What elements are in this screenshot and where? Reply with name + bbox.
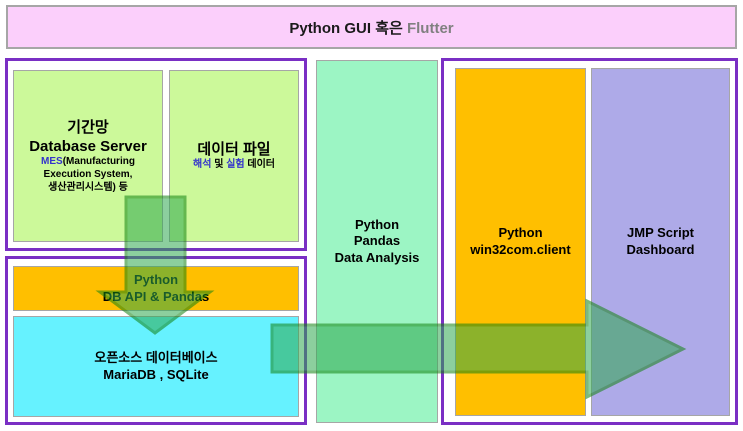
page-title-flutter: Flutter bbox=[407, 20, 454, 37]
data-file-sub-data: 데이터 bbox=[245, 159, 275, 170]
data-file-sub-analysis: 해석 bbox=[193, 159, 211, 170]
box-jmp-script-dashboard[interactable]: JMP Script Dashboard bbox=[591, 68, 730, 416]
win32com-line2: win32com.client bbox=[470, 242, 570, 259]
box-database-server[interactable]: 기간망 Database Server MES(Manufacturing Ex… bbox=[13, 70, 163, 242]
mes-acronym: MES bbox=[41, 156, 63, 167]
box-data-file[interactable]: 데이터 파일 해석 및 실험 데이터 bbox=[169, 70, 299, 242]
pandas-line1: Python bbox=[335, 217, 420, 234]
box-pandas-data-analysis[interactable]: Python Pandas Data Analysis bbox=[316, 60, 438, 423]
db-server-sub-line1: MES(Manufacturing bbox=[29, 156, 147, 169]
mes-expansion-1: (Manufacturing bbox=[63, 156, 135, 167]
header-bar: Python GUI 혹은 Flutter bbox=[6, 5, 737, 49]
python-dbapi-line2: DB API & Pandas bbox=[103, 289, 209, 306]
page-title-korean: 혹은 bbox=[375, 20, 407, 37]
data-file-sub-experiment: 실험 bbox=[226, 159, 244, 170]
pandas-line2: Pandas bbox=[335, 233, 420, 250]
box-opensource-database[interactable]: 오픈소스 데이터베이스 MariaDB , SQLite bbox=[13, 316, 299, 417]
box-python-db-api[interactable]: Python DB API & Pandas bbox=[13, 266, 299, 311]
db-server-line1: 기간망 bbox=[29, 118, 147, 137]
db-server-line2: Database Server bbox=[29, 137, 147, 156]
pandas-line3: Data Analysis bbox=[335, 250, 420, 267]
win32com-line1: Python bbox=[470, 225, 570, 242]
page-title: Python GUI 혹은 Flutter bbox=[289, 17, 453, 38]
python-dbapi-line1: Python bbox=[103, 272, 209, 289]
db-server-sub-line3: 생산관리시스템) 등 bbox=[29, 182, 147, 195]
db-server-sub-line2: Execution System, bbox=[29, 169, 147, 182]
jmp-line2: Dashboard bbox=[627, 242, 695, 259]
page-title-main: Python GUI bbox=[289, 20, 375, 37]
box-win32com-client[interactable]: Python win32com.client bbox=[455, 68, 586, 416]
data-file-title: 데이터 파일 bbox=[193, 140, 275, 159]
diagram-canvas: Python GUI 혹은 Flutter 기간망 Database Serve… bbox=[0, 0, 743, 431]
jmp-line1: JMP Script bbox=[627, 225, 695, 242]
data-file-subtitle: 해석 및 실험 데이터 bbox=[193, 159, 275, 172]
opensource-db-line2: MariaDB , SQLite bbox=[94, 367, 217, 384]
opensource-db-line1: 오픈소스 데이터베이스 bbox=[94, 350, 217, 367]
data-file-sub-and: 및 bbox=[211, 159, 226, 170]
